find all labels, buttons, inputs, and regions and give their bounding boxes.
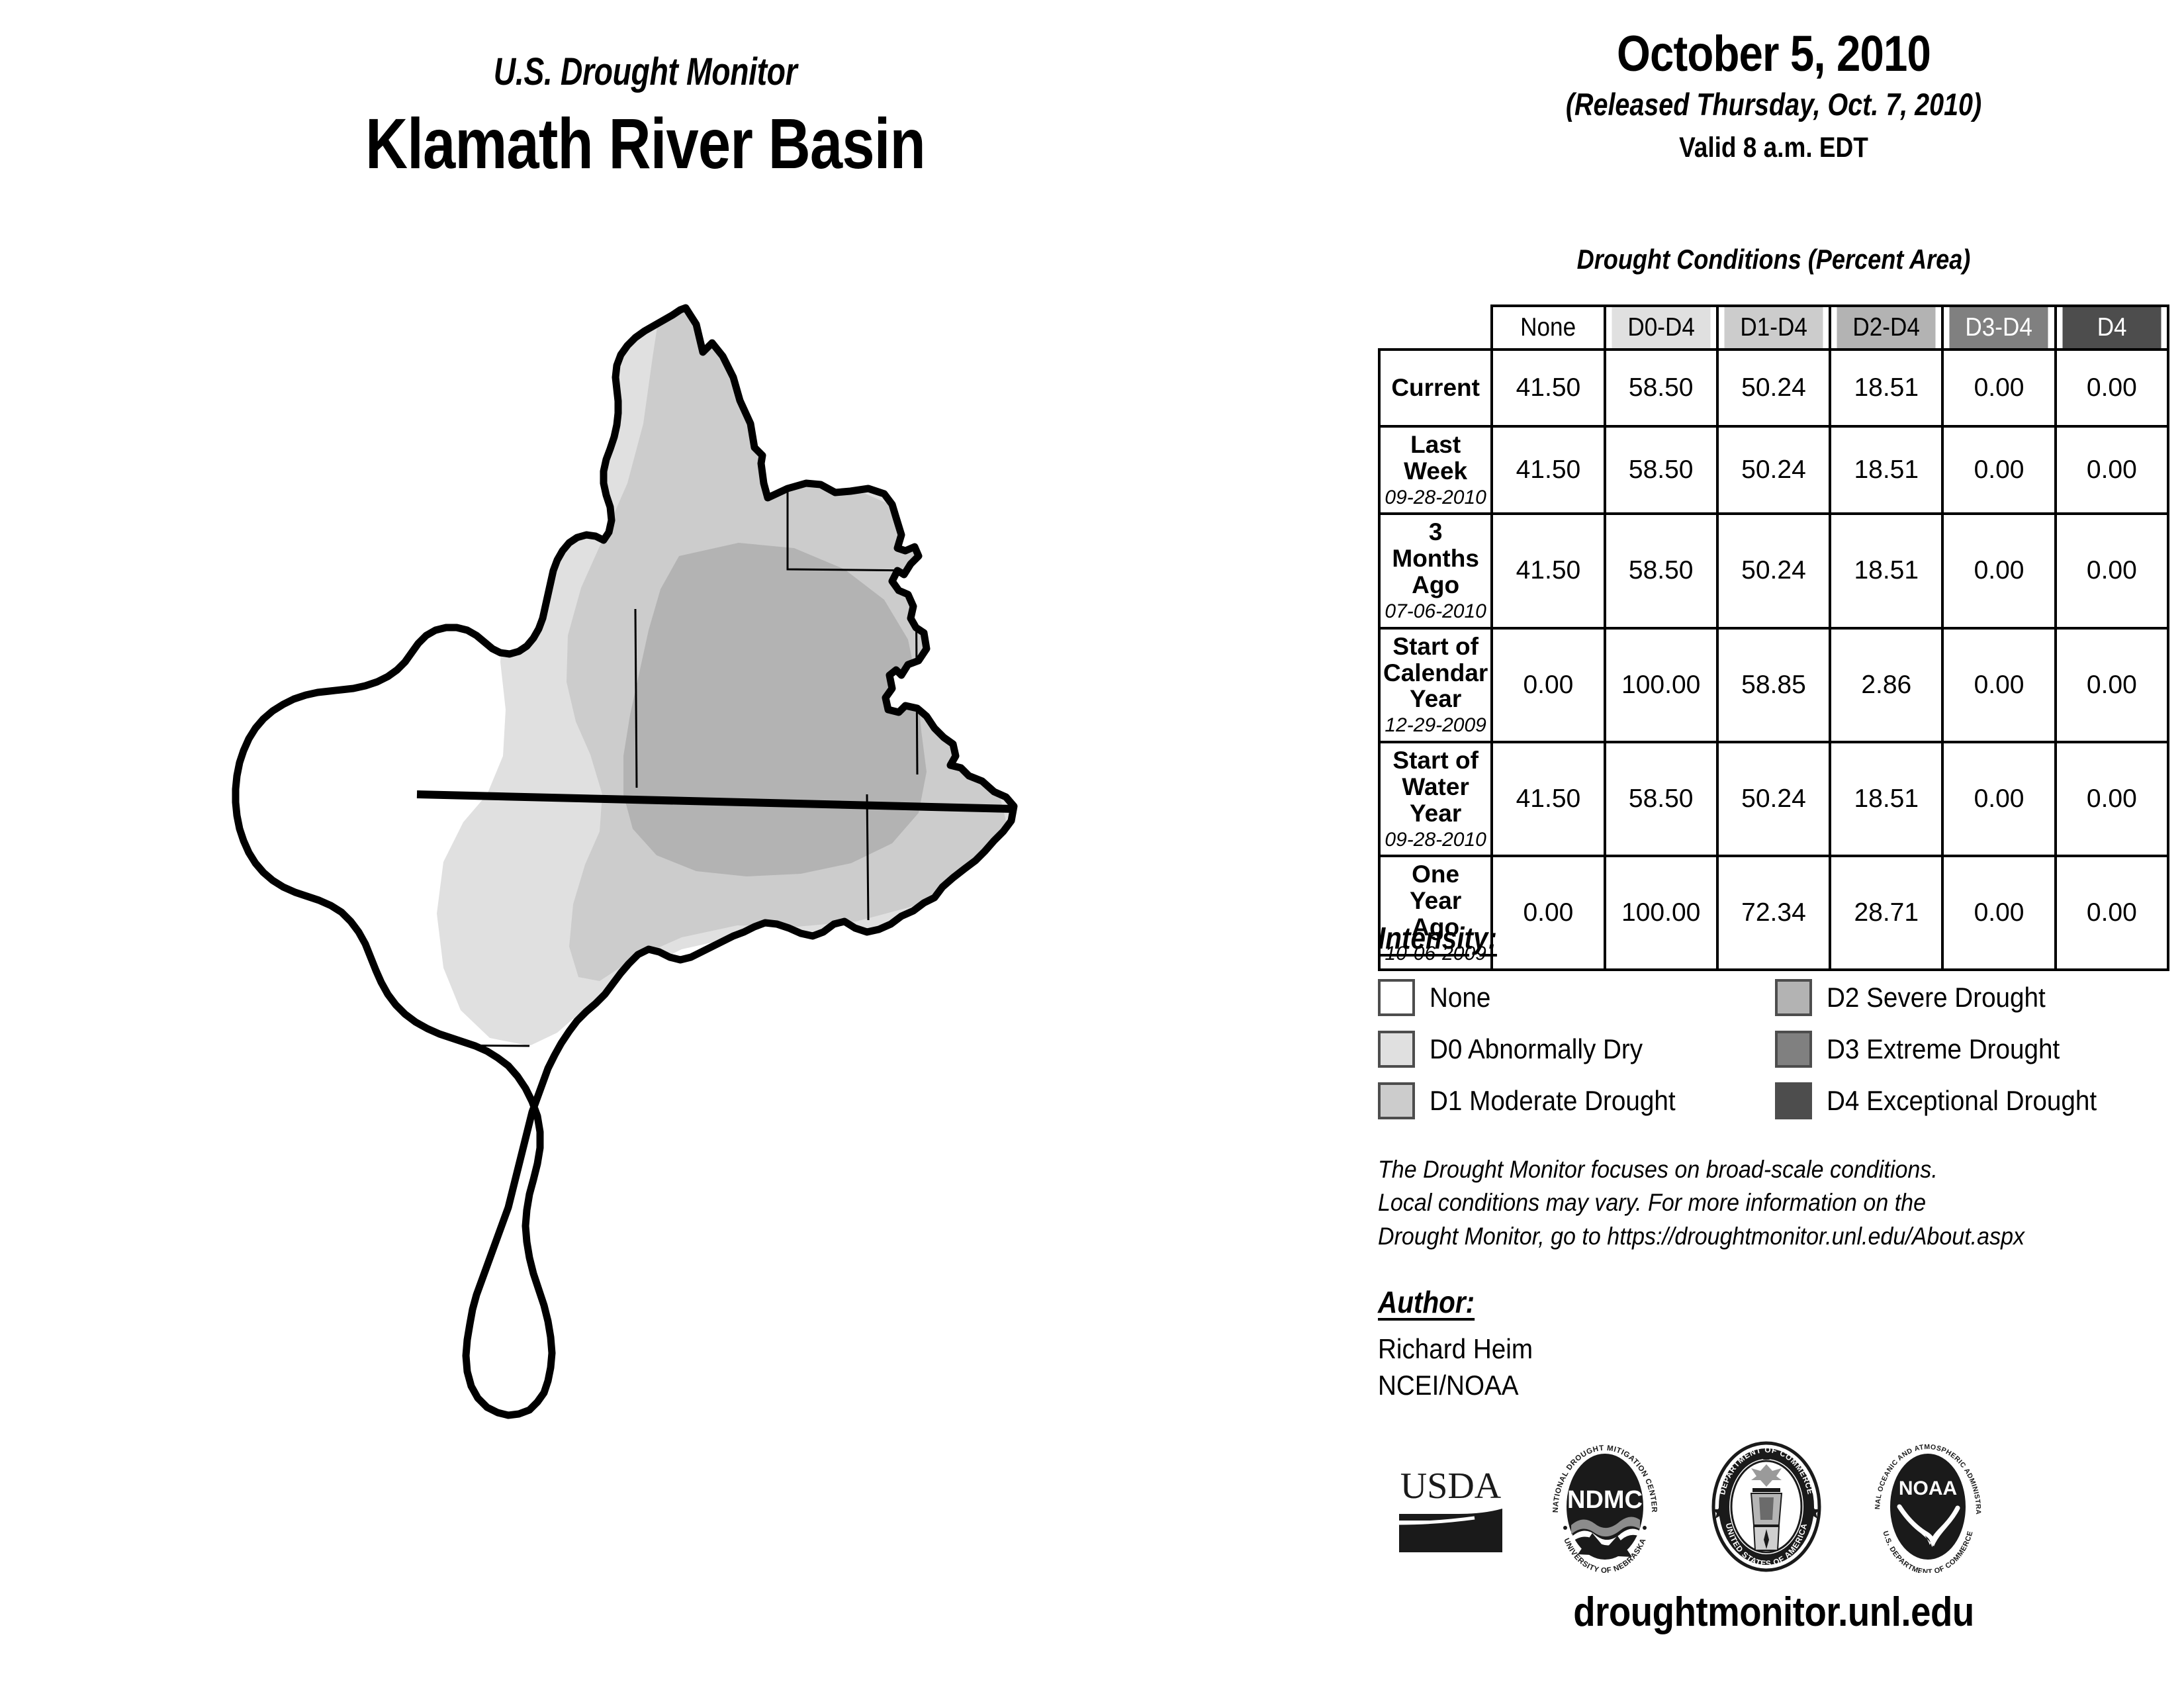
- table-row: Start ofCalendar Year12-29-20090.00100.0…: [1379, 628, 2168, 742]
- usda-logo: USDA: [1395, 1457, 1506, 1560]
- disclaimer-line-3: Drought Monitor, go to https://droughtmo…: [1378, 1220, 2115, 1253]
- table-row: Last Week09-28-201041.5058.5050.2418.510…: [1379, 426, 2168, 514]
- release-date: (Released Thursday, Oct. 7, 2010): [1429, 87, 2118, 122]
- row-header: Start ofWater Year09-28-2010: [1379, 742, 1492, 856]
- table-header-row: None D0-D4 D1-D4 D2-D4 D3-D4 D4: [1379, 306, 2168, 350]
- table-cell-d2-d4: 18.51: [1830, 426, 1942, 514]
- legend-item: D3 Extreme Drought: [1775, 1031, 2172, 1068]
- table-cell-d4: 0.00: [2056, 514, 2168, 628]
- table-cell-d4: 0.00: [2056, 856, 2168, 970]
- right-panel: October 5, 2010 (Released Thursday, Oct.…: [1363, 0, 2184, 1688]
- legend-item: D2 Severe Drought: [1775, 979, 2172, 1016]
- table-cell-d1-d4: 50.24: [1717, 742, 1830, 856]
- drought-conditions-table: None D0-D4 D1-D4 D2-D4 D3-D4 D4 Current4…: [1378, 305, 2169, 971]
- disclaimer-line-1: The Drought Monitor focuses on broad-sca…: [1378, 1153, 2115, 1186]
- legend-item: D1 Moderate Drought: [1378, 1082, 1775, 1119]
- table-cell-d1-d4: 50.24: [1717, 350, 1830, 426]
- ndmc-logo: NATIONAL DROUGHT MITIGATION CENTER UNIVE…: [1542, 1440, 1668, 1576]
- table-cell-none: 41.50: [1492, 426, 1604, 514]
- table-corner-cell: [1385, 306, 1486, 350]
- table-cell-d4: 0.00: [2056, 742, 2168, 856]
- row-header-name: Start ofWater Year: [1383, 747, 1488, 827]
- map-drought-layers: [66, 265, 1324, 1489]
- disclaimer-line-2: Local conditions may vary. For more info…: [1378, 1186, 2115, 1219]
- table-cell-none: 41.50: [1492, 350, 1604, 426]
- author-title: Author:: [1378, 1284, 1475, 1320]
- klamath-river-basin-map[interactable]: [66, 265, 1324, 1489]
- table-row: One Year Ago10-06-20090.00100.0072.3428.…: [1379, 856, 2168, 970]
- legend-item: D4 Exceptional Drought: [1775, 1082, 2172, 1119]
- row-header-date: 07-06-2010: [1383, 601, 1488, 622]
- legend-swatch: [1378, 1031, 1415, 1068]
- row-header: Start ofCalendar Year12-29-2009: [1379, 628, 1492, 742]
- table-cell-d4: 0.00: [2056, 628, 2168, 742]
- valid-date: October 5, 2010: [1421, 28, 2126, 81]
- doc-logo: DEPARTMENT OF COMMERCE UNITED STATES OF …: [1704, 1440, 1829, 1576]
- table-cell-d0-d4: 100.00: [1605, 856, 1717, 970]
- legend-item: D0 Abnormally Dry: [1378, 1031, 1775, 1068]
- title-block: U.S. Drought Monitor Klamath River Basin: [0, 53, 1291, 181]
- logo-row: USDA NATIONAL DROUGHT MITIGATION CENTER …: [1377, 1435, 2184, 1581]
- table-cell-d3-d4: 0.00: [1942, 856, 2055, 970]
- row-header-date: 09-28-2010: [1383, 487, 1488, 508]
- legend-label: D0 Abnormally Dry: [1430, 1033, 1643, 1065]
- table-cell-d1-d4: 50.24: [1717, 514, 1830, 628]
- table-row: 3 Months Ago07-06-201041.5058.5050.2418.…: [1379, 514, 2168, 628]
- date-block: October 5, 2010 (Released Thursday, Oct.…: [1363, 28, 2184, 164]
- table-cell-none: 41.50: [1492, 514, 1604, 628]
- legend-item: None: [1378, 979, 1775, 1016]
- author-name: Richard Heim: [1378, 1331, 1533, 1367]
- table-caption: Drought Conditions (Percent Area): [1421, 244, 2126, 275]
- table-cell-d1-d4: 50.24: [1717, 426, 1830, 514]
- table-cell-d0-d4: 58.50: [1605, 742, 1717, 856]
- legend-label: None: [1430, 982, 1490, 1013]
- col-header-d4: D4: [2061, 306, 2162, 350]
- table-cell-d1-d4: 72.34: [1717, 856, 1830, 970]
- author-affiliation: NCEI/NOAA: [1378, 1367, 1533, 1403]
- legend-label: D4 Exceptional Drought: [1827, 1085, 2097, 1117]
- table-cell-d3-d4: 0.00: [1942, 514, 2055, 628]
- table-cell-d3-d4: 0.00: [1942, 350, 2055, 426]
- legend-swatch: [1775, 1082, 1812, 1119]
- row-header: Last Week09-28-2010: [1379, 426, 1492, 514]
- row-header-name: Start ofCalendar Year: [1383, 633, 1488, 713]
- col-header-d3-d4: D3-D4: [1948, 306, 2050, 350]
- noaa-logo: NATIONAL OCEANIC AND ATMOSPHERIC ADMINIS…: [1865, 1440, 1991, 1576]
- noaa-logo-text: NOAA: [1899, 1477, 1957, 1499]
- page-subtitle: U.S. Drought Monitor: [129, 53, 1161, 91]
- page-title: Klamath River Basin: [116, 106, 1175, 181]
- legend-swatch: [1378, 979, 1415, 1016]
- table-cell-none: 41.50: [1492, 742, 1604, 856]
- legend-label: D2 Severe Drought: [1827, 982, 2046, 1013]
- table-cell-d2-d4: 18.51: [1830, 350, 1942, 426]
- table-cell-d0-d4: 58.50: [1605, 350, 1717, 426]
- table-row: Current41.5058.5050.2418.510.000.00: [1379, 350, 2168, 426]
- col-header-none: None: [1498, 306, 1599, 350]
- col-header-d1-d4: D1-D4: [1723, 306, 1824, 350]
- footer-url[interactable]: droughtmonitor.unl.edu: [1412, 1589, 2134, 1636]
- table-cell-d2-d4: 18.51: [1830, 514, 1942, 628]
- table-cell-none: 0.00: [1492, 856, 1604, 970]
- row-header-name: 3 Months Ago: [1383, 519, 1488, 598]
- col-header-d2-d4: D2-D4: [1836, 306, 1937, 350]
- table-cell-d0-d4: 58.50: [1605, 514, 1717, 628]
- row-header-name: Current: [1383, 375, 1488, 401]
- table-cell-d0-d4: 100.00: [1605, 628, 1717, 742]
- ndmc-logo-text: NDMC: [1567, 1486, 1643, 1514]
- table-cell-d3-d4: 0.00: [1942, 426, 2055, 514]
- table-cell-none: 0.00: [1492, 628, 1604, 742]
- legend-swatch: [1378, 1082, 1415, 1119]
- left-panel: U.S. Drought Monitor Klamath River Basin: [0, 0, 1363, 1688]
- map-container[interactable]: [66, 265, 1324, 1489]
- usda-logo-text: USDA: [1400, 1466, 1502, 1507]
- table-cell-d2-d4: 18.51: [1830, 742, 1942, 856]
- col-header-d0-d4: D0-D4: [1610, 306, 1711, 350]
- legend-label: D1 Moderate Drought: [1430, 1085, 1676, 1117]
- table-row: Start ofWater Year09-28-201041.5058.5050…: [1379, 742, 2168, 856]
- table-cell-d2-d4: 2.86: [1830, 628, 1942, 742]
- table-cell-d3-d4: 0.00: [1942, 742, 2055, 856]
- table-cell-d2-d4: 28.71: [1830, 856, 1942, 970]
- disclaimer-text: The Drought Monitor focuses on broad-sca…: [1378, 1153, 2115, 1253]
- legend-swatch: [1775, 979, 1812, 1016]
- intensity-legend: NoneD2 Severe DroughtD0 Abnormally DryD3…: [1378, 972, 2179, 1127]
- valid-time: Valid 8 a.m. EDT: [1421, 132, 2126, 164]
- table-cell-d0-d4: 58.50: [1605, 426, 1717, 514]
- table-cell-d3-d4: 0.00: [1942, 628, 2055, 742]
- legend-label: D3 Extreme Drought: [1827, 1033, 2060, 1065]
- legend-swatch: [1775, 1031, 1812, 1068]
- table-cell-d4: 0.00: [2056, 426, 2168, 514]
- row-header-date: 09-28-2010: [1383, 829, 1488, 851]
- row-header: Current: [1379, 350, 1492, 426]
- table-cell-d4: 0.00: [2056, 350, 2168, 426]
- row-header-date: 12-29-2009: [1383, 715, 1488, 736]
- intensity-legend-title: Intensity:: [1378, 920, 1497, 956]
- row-header: 3 Months Ago07-06-2010: [1379, 514, 1492, 628]
- table-cell-d1-d4: 58.85: [1717, 628, 1830, 742]
- row-header-name: Last Week: [1383, 432, 1488, 485]
- author-block: Richard Heim NCEI/NOAA: [1378, 1331, 1533, 1404]
